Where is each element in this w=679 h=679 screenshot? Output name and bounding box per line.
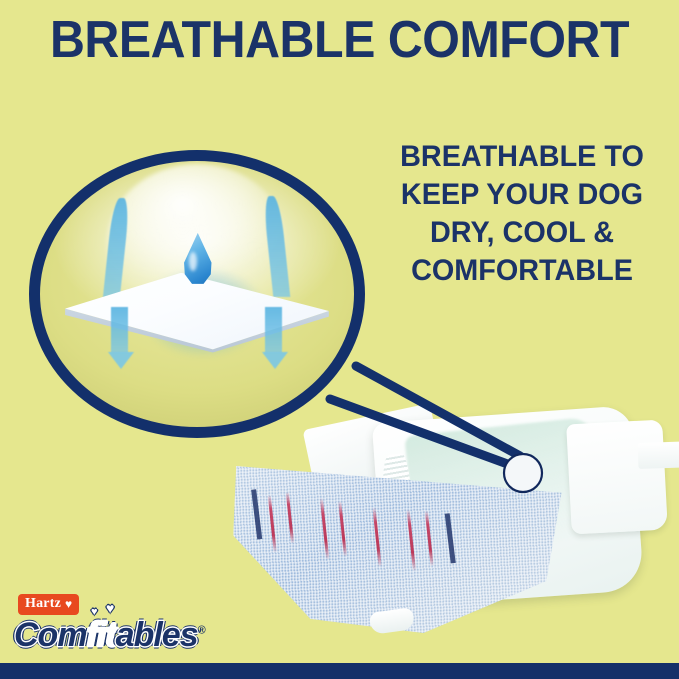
dome-highlight <box>106 164 288 329</box>
registered-trademark-icon: ® <box>198 625 205 637</box>
fabric-sheet <box>65 273 329 353</box>
water-droplet-icon <box>180 233 216 286</box>
dog-diaper-photo <box>228 404 679 644</box>
tagline-line-1: BREATHABLE TO <box>378 138 666 176</box>
tagline-line-4: COMFORTABLE <box>378 252 666 290</box>
heart-icon: ♥ <box>65 598 72 610</box>
comfitables-wordmark: Comfitables® <box>14 616 205 655</box>
airflow-out-arrow-right <box>263 307 289 376</box>
wordmark-seg-com: Com <box>14 616 87 654</box>
diaper-fastener-strap <box>638 441 679 469</box>
airflow-out-arrow-left <box>109 307 135 376</box>
tagline-line-3: DRY, COOL & <box>378 214 666 252</box>
heart-accent-icon-large: ♥ <box>106 600 114 616</box>
airflow-in-arrow-left <box>106 198 132 299</box>
hartz-badge: Hartz ♥ <box>18 594 79 615</box>
brand-logo: Hartz ♥ ♥ ♥ Comfitables® <box>14 594 189 656</box>
wordmark-seg-fit: fit <box>87 616 116 654</box>
diaper-right-tab <box>566 420 668 535</box>
tagline-line-2: KEEP YOUR DOG <box>378 176 666 214</box>
wordmark-seg-ables: ables <box>116 616 198 654</box>
poster-canvas: BREATHABLE COMFORT <box>0 0 679 679</box>
hartz-wordmark: Hartz <box>25 596 61 612</box>
airflow-in-arrow-right <box>266 196 292 297</box>
magnifier-lens <box>29 150 365 438</box>
tagline-block: BREATHABLE TO KEEP YOUR DOG DRY, COOL & … <box>378 138 666 290</box>
page-title: BREATHABLE COMFORT <box>24 12 655 69</box>
bottom-accent-bar <box>0 663 679 679</box>
moisture-halo <box>122 254 285 371</box>
